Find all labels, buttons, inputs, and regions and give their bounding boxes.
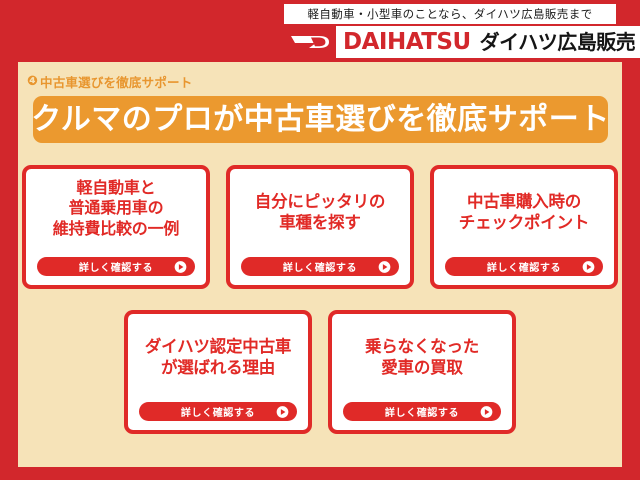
main-banner-text: クルマのプロが中古車選びを徹底サポート [31,105,610,135]
play-circle-icon [378,260,391,273]
main-banner: クルマのプロが中古車選びを徹底サポート [33,96,608,143]
card-title-line: 車種を探す [255,212,385,233]
details-button-label: 詳しく確認する [487,259,561,274]
header-band: 軽自動車・小型車のことなら、ダイハツ広島販売まで DAIHATSU ダイハツ広島… [0,0,640,62]
daihatsu-emblem-icon [284,26,336,58]
card-title-line: 維持費比較の一例 [53,219,179,239]
play-circle-icon [276,405,289,418]
details-button[interactable]: 詳しく確認する [139,402,297,421]
header-inner: 軽自動車・小型車のことなら、ダイハツ広島販売まで DAIHATSU ダイハツ広島… [272,0,640,62]
card-row-bottom: ダイハツ認定中古車 が選ばれる理由 詳しく確認する 乗らなくなった 愛車の買取 [18,310,622,434]
card-title: 中古車購入時の チェックポイント [459,191,589,233]
card-title-line: チェックポイント [459,212,589,233]
card-title-line: ダイハツ認定中古車 [145,336,291,357]
card-car-purchase-buyback[interactable]: 乗らなくなった 愛車の買取 詳しく確認する [328,310,516,434]
logo-wordmark: DAIHATSU [343,31,471,54]
tagline-container: 軽自動車・小型車のことなら、ダイハツ広島販売まで [284,4,616,24]
content-panel: ❹ 中古車選びを徹底サポート クルマのプロが中古車選びを徹底サポート 軽自動車と… [18,62,622,467]
play-circle-icon [174,260,187,273]
play-circle-icon [582,260,595,273]
card-title-line: 愛車の買取 [365,357,479,378]
section-heading: ❹ 中古車選びを徹底サポート [27,72,192,91]
card-row-top: 軽自動車と 普通乗用車の 維持費比較の一例 詳しく確認する 自分にピッタリの 車… [18,165,622,289]
card-title: 自分にピッタリの 車種を探す [255,191,385,233]
promo-banner-screen: 軽自動車・小型車のことなら、ダイハツ広島販売まで DAIHATSU ダイハツ広島… [0,0,640,480]
dealer-name: ダイハツ広島販売 [480,32,636,52]
card-title-line: が選ばれる理由 [145,357,291,378]
play-circle-icon [480,405,493,418]
card-maintenance-cost-comparison[interactable]: 軽自動車と 普通乗用車の 維持費比較の一例 詳しく確認する [22,165,210,289]
card-find-your-model[interactable]: 自分にピッタリの 車種を探す 詳しく確認する [226,165,414,289]
card-certified-used-car-reasons[interactable]: ダイハツ認定中古車 が選ばれる理由 詳しく確認する [124,310,312,434]
card-title: ダイハツ認定中古車 が選ばれる理由 [145,336,291,378]
card-used-car-checkpoints[interactable]: 中古車購入時の チェックポイント 詳しく確認する [430,165,618,289]
card-title-line: 中古車購入時の [459,191,589,212]
section-heading-label: 中古車選びを徹底サポート [40,72,192,91]
section-number-badge: ❹ [27,75,38,88]
details-button[interactable]: 詳しく確認する [37,257,195,276]
card-title-line: 普通乗用車の [53,198,179,218]
card-title: 乗らなくなった 愛車の買取 [365,336,479,378]
details-button[interactable]: 詳しく確認する [445,257,603,276]
brand-logo-bar: DAIHATSU ダイハツ広島販売 [284,26,640,58]
card-title: 軽自動車と 普通乗用車の 維持費比較の一例 [53,178,179,239]
card-title-line: 自分にピッタリの [255,191,385,212]
card-title-line: 乗らなくなった [365,336,479,357]
details-button-label: 詳しく確認する [181,404,255,419]
card-title-line: 軽自動車と [53,178,179,198]
details-button-label: 詳しく確認する [385,404,459,419]
details-button-label: 詳しく確認する [79,259,153,274]
details-button[interactable]: 詳しく確認する [343,402,501,421]
details-button[interactable]: 詳しく確認する [241,257,399,276]
details-button-label: 詳しく確認する [283,259,357,274]
tagline-text: 軽自動車・小型車のことなら、ダイハツ広島販売まで [307,6,592,22]
